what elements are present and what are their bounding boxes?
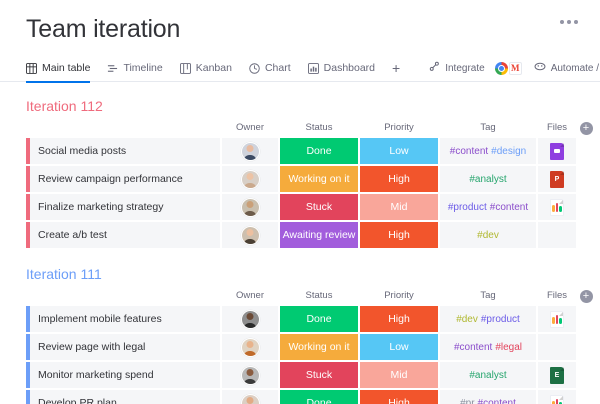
integrate-icon [429,61,440,75]
avatar[interactable] [241,338,260,357]
tab-kanban[interactable]: Kanban [180,54,232,82]
avatar[interactable] [241,170,260,189]
table-row[interactable]: Implement mobile featuresDoneHigh#dev#pr… [26,306,594,332]
group-color-bar [26,334,30,360]
dot [574,20,578,24]
monday-logo-icon [552,203,562,212]
status-badge[interactable]: Done [280,138,358,164]
status-badge[interactable]: Working on it [280,166,358,192]
gmail-icon: M [509,62,522,75]
item-name-label: Monitor marketing spend [38,369,154,381]
status-badge[interactable]: Stuck [280,362,358,388]
tag-label[interactable]: #analyst [469,174,506,185]
status-badge[interactable]: Working on it [280,334,358,360]
cell-owner[interactable] [222,362,278,388]
cell-owner[interactable] [222,306,278,332]
priority-badge[interactable]: High [360,166,438,192]
cell-owner[interactable] [222,194,278,220]
cell-tag[interactable]: #product#content [440,194,536,220]
cell-item-name[interactable]: Monitor marketing spend [26,362,220,388]
integration-app-icons: M [495,62,522,75]
group-color-bar [26,166,30,192]
priority-badge[interactable]: High [360,222,438,248]
tag-label[interactable]: #dev [477,230,499,241]
priority-badge[interactable]: Low [360,334,438,360]
cell-add-spacer [578,362,594,388]
board-header: Team iteration [0,0,600,44]
cell-priority[interactable]: Low [360,138,438,164]
item-name-label: Social media posts [38,145,126,157]
item-name-label: Implement mobile features [38,313,162,325]
tag-label[interactable]: #content [478,398,516,404]
group-rows: Social media postsDoneLow#content#design… [26,138,594,248]
avatar[interactable] [241,142,260,161]
tab-label: Dashboard [324,62,375,74]
automate-button[interactable]: Automate / 2 [534,61,600,75]
tag-label[interactable]: #legal [495,342,522,353]
cell-add-spacer [578,166,594,192]
table-row[interactable]: Finalize marketing strategyStuckMid#prod… [26,194,594,220]
avatar[interactable] [241,198,260,217]
cell-item-name[interactable]: Create a/b test [26,222,220,248]
column-header-status[interactable]: Status [280,122,358,136]
item-name-label: Finalize marketing strategy [38,201,163,213]
cell-item-name[interactable]: Social media posts [26,138,220,164]
cell-files[interactable] [538,390,576,404]
cell-files[interactable] [538,138,576,164]
avatar[interactable] [241,226,260,245]
board-content: Iteration 112 Owner Status Priority Tag … [0,97,600,404]
cell-priority[interactable]: High [360,166,438,192]
avatar[interactable] [241,394,260,404]
powerpoint-file-icon[interactable]: P [550,171,564,188]
tag-label[interactable]: #dev [456,314,478,325]
view-tabbar: Main table Timeline Kanban Chart Dashboa [0,54,600,82]
status-badge[interactable]: Awaiting review [280,222,358,248]
monday-file-icon[interactable] [550,395,564,404]
cell-add-spacer [578,194,594,220]
group-table: Owner Status Priority Tag Files + Implem… [24,288,596,404]
group-color-bar [26,306,30,332]
group-color-bar [26,362,30,388]
cell-add-spacer [578,390,594,404]
cell-tag[interactable]: #analyst [440,166,536,192]
item-name-label: Develop PR plan [38,397,117,404]
integrate-label: Integrate [445,63,484,74]
monday-file-icon[interactable] [550,311,564,328]
kanban-icon [180,63,191,74]
tab-main-table[interactable]: Main table [26,54,90,82]
status-badge[interactable]: Stuck [280,194,358,220]
priority-badge[interactable]: High [360,390,438,404]
cell-item-name[interactable]: Develop PR plan [26,390,220,404]
cell-tag[interactable]: #pr#content [440,390,536,404]
group-color-bar [26,138,30,164]
cell-tag[interactable]: #dev [440,222,536,248]
video-file-icon[interactable] [550,143,564,160]
tab-label: Timeline [123,62,162,74]
cell-item-name[interactable]: Review page with legal [26,334,220,360]
group-iteration-112: Iteration 112 Owner Status Priority Tag … [26,97,582,250]
status-badge[interactable]: Done [280,390,358,404]
column-header-add: + [578,290,594,304]
column-header-name[interactable] [26,122,220,136]
page-title: Team iteration [26,14,582,44]
group-color-bar [26,390,30,404]
table-header-row: Owner Status Priority Tag Files + [26,122,594,136]
cell-priority[interactable]: High [360,390,438,404]
tag-label[interactable]: #content [454,342,492,353]
table-header-row: Owner Status Priority Tag Files + [26,290,594,304]
cell-files[interactable] [538,222,576,248]
tag-label[interactable]: #content [490,202,528,213]
cell-owner[interactable] [222,390,278,404]
cell-owner[interactable] [222,166,278,192]
cell-files[interactable] [538,306,576,332]
item-name-label: Review campaign performance [38,173,183,185]
item-name-label: Review page with legal [38,341,145,353]
tab-chart[interactable]: Chart [249,54,291,82]
board-canvas: Team iteration Main table Timeline Kanba… [0,0,600,404]
tag-label[interactable]: #product [481,314,520,325]
group-title[interactable]: Iteration 111 [26,265,102,283]
cell-tag[interactable]: #dev#product [440,306,536,332]
tab-dashboard[interactable]: Dashboard [308,54,375,82]
priority-badge[interactable]: Low [360,138,438,164]
status-badge[interactable]: Done [280,306,358,332]
table-row[interactable]: Social media postsDoneLow#content#design [26,138,594,164]
cell-owner[interactable] [222,334,278,360]
add-column-button[interactable]: + [580,122,593,135]
group-color-bar [26,222,30,248]
column-header-priority[interactable]: Priority [360,290,438,304]
item-name-label: Create a/b test [38,229,107,241]
cell-tag[interactable]: #content#design [440,138,536,164]
cell-files[interactable]: E [538,362,576,388]
integrate-button[interactable]: Integrate M [429,61,521,75]
column-header-tag[interactable]: Tag [440,290,536,304]
cell-status[interactable]: Awaiting review [280,222,358,248]
cell-item-name[interactable]: Review campaign performance [26,166,220,192]
table-row[interactable]: Create a/b testAwaiting reviewHigh#dev [26,222,594,248]
column-header-files[interactable]: Files [538,290,576,304]
tab-label: Chart [265,62,291,74]
add-view-button[interactable]: + [392,61,400,76]
dot [560,20,564,24]
cell-add-spacer [578,138,594,164]
avatar[interactable] [241,310,260,329]
group-iteration-111: Iteration 111 Owner Status Priority Tag … [26,265,582,404]
column-header-status[interactable]: Status [280,290,358,304]
cell-status[interactable]: Done [280,138,358,164]
group-title[interactable]: Iteration 112 [26,97,103,115]
cell-status[interactable]: Done [280,306,358,332]
column-header-add: + [578,122,594,136]
avatar[interactable] [241,366,260,385]
cell-status[interactable]: Stuck [280,362,358,388]
table-row[interactable]: Monitor marketing spendStuckMid#analystE [26,362,594,388]
monday-logo-icon [552,399,562,404]
cell-status[interactable]: Done [280,390,358,404]
priority-badge[interactable]: Mid [360,194,438,220]
monday-file-icon[interactable] [550,199,564,216]
cell-owner[interactable] [222,222,278,248]
cell-priority[interactable]: Mid [360,194,438,220]
dot [567,20,571,24]
cell-add-spacer [578,222,594,248]
monday-logo-icon [552,315,562,324]
cell-add-spacer [578,306,594,332]
excel-file-icon[interactable]: E [550,367,564,384]
cell-owner[interactable] [222,138,278,164]
column-header-owner[interactable]: Owner [222,122,278,136]
automate-icon [534,61,546,75]
cell-status[interactable]: Working on it [280,334,358,360]
table-row[interactable]: Review page with legalWorking on itLow#c… [26,334,594,360]
table-row[interactable]: Develop PR planDoneHigh#pr#content [26,390,594,404]
tag-label[interactable]: #product [448,202,487,213]
column-header-owner[interactable]: Owner [222,290,278,304]
column-header-tag[interactable]: Tag [440,122,536,136]
priority-badge[interactable]: High [360,306,438,332]
tag-label[interactable]: #pr [460,398,474,404]
video-glyph-icon [554,149,560,153]
cell-status[interactable]: Stuck [280,194,358,220]
more-options-button[interactable] [560,20,578,24]
cell-status[interactable]: Working on it [280,166,358,192]
group-rows: Implement mobile featuresDoneHigh#dev#pr… [26,306,594,404]
column-header-priority[interactable]: Priority [360,122,438,136]
cell-item-name[interactable]: Implement mobile features [26,306,220,332]
cell-files[interactable]: P [538,166,576,192]
cell-add-spacer [578,334,594,360]
tab-label: Kanban [196,62,232,74]
column-header-files[interactable]: Files [538,122,576,136]
tab-timeline[interactable]: Timeline [107,54,162,82]
tag-label[interactable]: #content [450,146,488,157]
dashboard-icon [308,63,319,74]
cell-tag[interactable]: #analyst [440,362,536,388]
group-color-bar [26,194,30,220]
table-row[interactable]: Review campaign performanceWorking on it… [26,166,594,192]
tab-label: Main table [42,62,90,74]
timeline-icon [107,63,118,74]
cell-priority[interactable]: Low [360,334,438,360]
column-header-name[interactable] [26,290,220,304]
add-column-button[interactable]: + [580,290,593,303]
tag-label[interactable]: #analyst [469,370,506,381]
cell-item-name[interactable]: Finalize marketing strategy [26,194,220,220]
automate-label: Automate / 2 [551,63,600,74]
cell-priority[interactable]: High [360,306,438,332]
table-icon [26,63,37,74]
cell-tag[interactable]: #content#legal [440,334,536,360]
chart-icon [249,63,260,74]
tag-label[interactable]: #design [491,146,526,157]
cell-priority[interactable]: Mid [360,362,438,388]
cell-priority[interactable]: High [360,222,438,248]
chrome-icon [495,62,508,75]
cell-files[interactable] [538,334,576,360]
cell-files[interactable] [538,194,576,220]
priority-badge[interactable]: Mid [360,362,438,388]
group-table: Owner Status Priority Tag Files + Social… [24,120,596,250]
